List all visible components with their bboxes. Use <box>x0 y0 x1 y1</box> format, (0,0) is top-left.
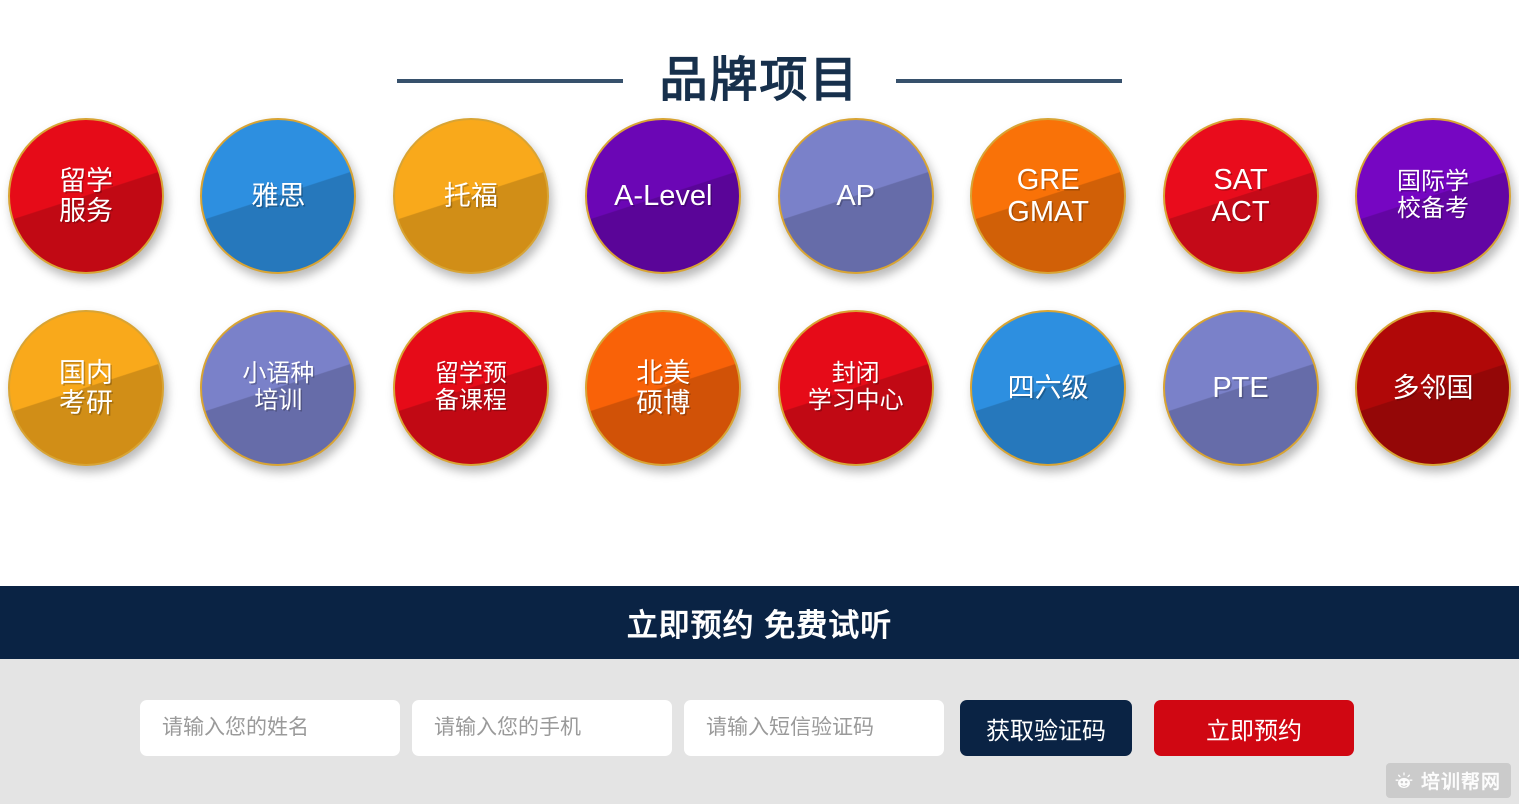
program-bubble-duolingguo[interactable]: 多邻国 <box>1355 310 1511 466</box>
program-bubble-a-level[interactable]: A-Level <box>585 118 741 274</box>
reservation-form: 获取验证码 立即预约 <box>0 659 1519 804</box>
form-fields-row: 获取验证码 立即预约 <box>0 659 1519 756</box>
name-input[interactable] <box>140 700 400 756</box>
program-bubble-fengbi-xuexi[interactable]: 封闭 学习中心 <box>778 310 934 466</box>
program-bubble-liuxue-fuwu[interactable]: 留学 服务 <box>8 118 164 274</box>
program-bubble-ap[interactable]: AP <box>778 118 934 274</box>
eye-sun-icon <box>1394 771 1414 791</box>
title-rule-left <box>397 79 623 83</box>
program-bubble-label: SAT ACT <box>1206 164 1276 229</box>
program-bubble-guonei-kaoyan[interactable]: 国内 考研 <box>8 310 164 466</box>
program-bubble-beimei-shuobo[interactable]: 北美 硕博 <box>585 310 741 466</box>
watermark-label: 培训帮网 <box>1421 767 1501 794</box>
program-bubble-label: 雅思 <box>245 181 311 211</box>
site-watermark: 培训帮网 <box>1386 763 1511 798</box>
cta-banner-text: 立即预约 免费试听 <box>627 600 893 645</box>
program-bubble-label: 留学 服务 <box>53 166 119 226</box>
program-bubble-gre-gmat[interactable]: GRE GMAT <box>970 118 1126 274</box>
submit-reservation-button[interactable]: 立即预约 <box>1154 700 1354 756</box>
program-bubble-liuxue-yubei[interactable]: 留学预 备课程 <box>393 310 549 466</box>
program-bubble-label: 国际学 校备考 <box>1391 169 1475 223</box>
program-bubble-siliuji-cet[interactable]: 四六级 <box>970 310 1126 466</box>
program-bubble-label: 四六级 <box>1002 373 1095 403</box>
program-bubble-label: AP <box>830 180 881 212</box>
program-bubble-label: 国内 考研 <box>53 358 119 418</box>
program-bubble-label: 小语种 培训 <box>236 361 320 415</box>
program-bubble-label: 封闭 学习中心 <box>802 361 910 415</box>
phone-input[interactable] <box>412 700 672 756</box>
program-bubble-label: 多邻国 <box>1386 373 1479 403</box>
program-grid: 留学 服务雅思托福A-LevelAPGRE GMATSAT ACT国际学 校备考… <box>0 100 1519 466</box>
program-row-1: 留学 服务雅思托福A-LevelAPGRE GMATSAT ACT国际学 校备考 <box>0 118 1519 274</box>
program-bubble-guoji-xuexiao[interactable]: 国际学 校备考 <box>1355 118 1511 274</box>
program-row-2: 国内 考研小语种 培训留学预 备课程北美 硕博封闭 学习中心四六级PTE多邻国 <box>0 310 1519 466</box>
program-bubble-label: 留学预 备课程 <box>429 361 513 415</box>
program-bubble-tuofu-toefl[interactable]: 托福 <box>393 118 549 274</box>
program-bubble-sat-act[interactable]: SAT ACT <box>1163 118 1319 274</box>
sms-code-input[interactable] <box>684 700 944 756</box>
program-bubble-pte[interactable]: PTE <box>1163 310 1319 466</box>
title-rule-right <box>896 79 1122 83</box>
cta-banner: 立即预约 免费试听 <box>0 586 1519 659</box>
program-bubble-label: A-Level <box>608 180 718 212</box>
program-bubble-label: 托福 <box>438 181 504 211</box>
program-bubble-yasi-ielts[interactable]: 雅思 <box>200 118 356 274</box>
program-bubble-xiaoyuzhong[interactable]: 小语种 培训 <box>200 310 356 466</box>
program-bubble-label: GRE GMAT <box>1001 164 1095 229</box>
program-bubble-label: PTE <box>1206 372 1274 404</box>
page-title-row: 品牌项目 <box>0 0 1519 100</box>
program-bubble-label: 北美 硕博 <box>630 358 696 418</box>
page-title: 品牌项目 <box>659 57 859 105</box>
get-code-button[interactable]: 获取验证码 <box>960 700 1132 756</box>
